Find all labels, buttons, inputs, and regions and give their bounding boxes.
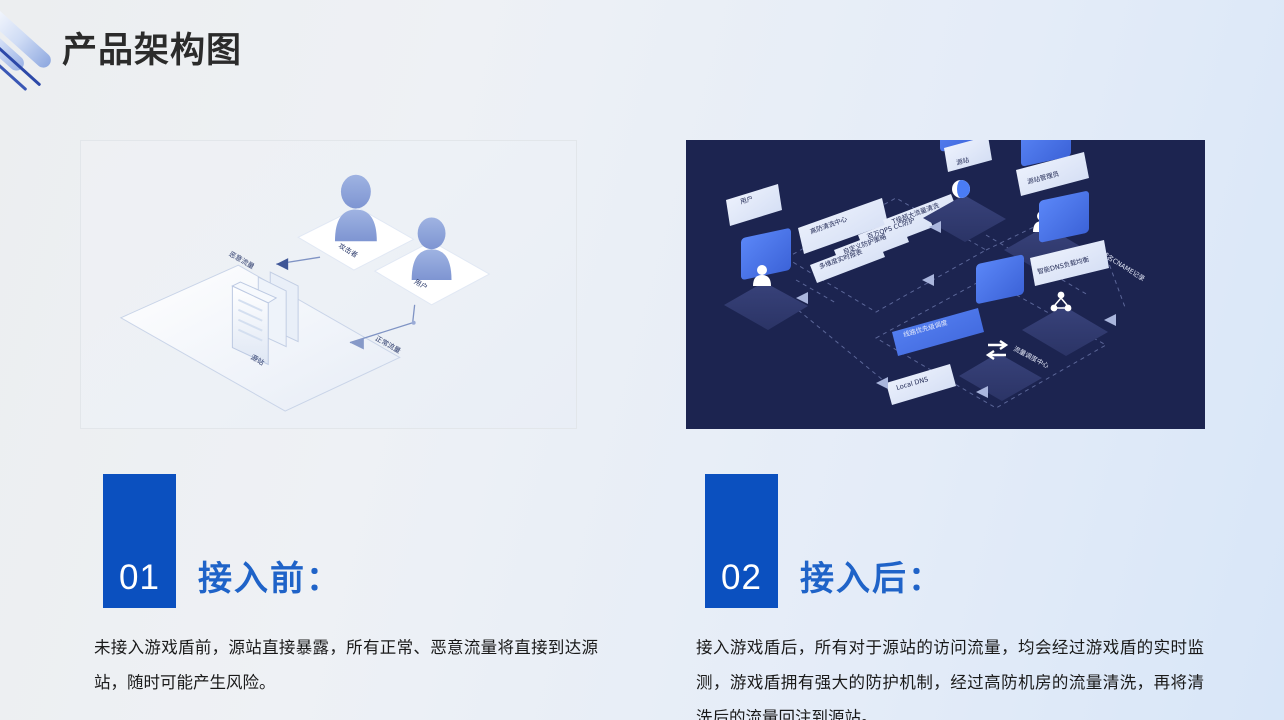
- heading-row-before: 01 接入前：: [80, 474, 577, 608]
- page-title: 产品架构图: [62, 22, 242, 73]
- isometric-illustration-before: 源站 攻击者 用户: [81, 141, 576, 428]
- section-after-onboarding: 用户 高防清洗中心 T级超大流量清洗 百万QPS CC防护 自定义防护策略 多维…: [686, 140, 1205, 429]
- section-body-after: 接入游戏盾后，所有对于源站的访问流量，均会经过游戏盾的实时监测，游戏盾拥有强大的…: [696, 630, 1204, 720]
- section-number-badge-01: 01: [103, 474, 176, 608]
- section-before-onboarding: 源站 攻击者 用户: [80, 140, 577, 429]
- isometric-illustration-after: 用户 高防清洗中心 T级超大流量清洗 百万QPS CC防护 自定义防护策略 多维…: [686, 140, 1205, 429]
- section-heading-after: 接入后：: [800, 551, 944, 600]
- node-dns-load-balance: [1022, 190, 1109, 356]
- section-number-badge-02: 02: [705, 474, 778, 608]
- diagram-panel-before: 源站 攻击者 用户: [80, 140, 577, 429]
- flow-malicious: [276, 257, 320, 270]
- heading-row-after: 02 接入后：: [686, 474, 1205, 608]
- section-body-before: 未接入游戏盾前，源站直接暴露，所有正常、恶意流量将直接到达源站，随时可能产生风险…: [94, 630, 598, 700]
- diagram-panel-after: 用户 高防清洗中心 T级超大流量清洗 百万QPS CC防护 自定义防护策略 多维…: [686, 140, 1205, 429]
- node-user: [724, 184, 808, 330]
- section-heading-before: 接入前：: [198, 551, 342, 600]
